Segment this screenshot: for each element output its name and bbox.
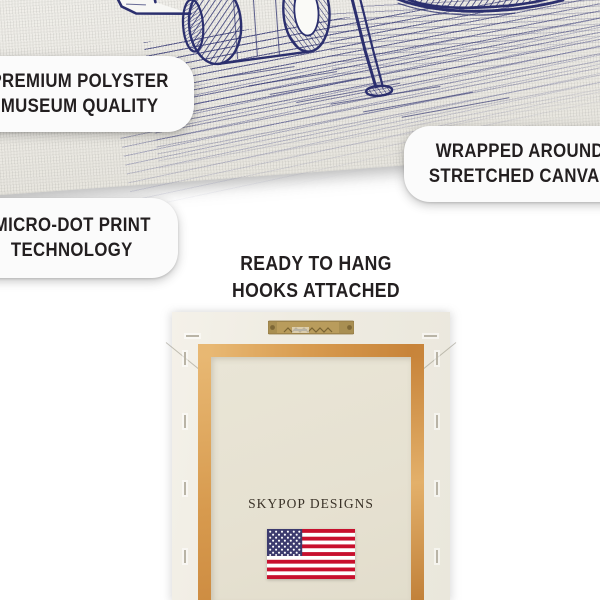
- staple: [424, 335, 437, 337]
- feature-line: MICRO-DOT PRINT: [0, 213, 151, 238]
- product-infographic: PREMIUM POLYSTER MUSEUM QUALITY WRAPPED …: [0, 0, 600, 600]
- staple: [436, 550, 438, 563]
- staple: [184, 550, 186, 563]
- staple: [436, 482, 438, 495]
- feature-line: READY TO HANG: [210, 251, 421, 278]
- feature-line: PREMIUM POLYSTER: [0, 69, 169, 94]
- feature-line: WRAPPED AROUND: [436, 139, 600, 164]
- feature-line: TECHNOLOGY: [11, 238, 133, 263]
- feature-callout-premium-polyster: PREMIUM POLYSTER MUSEUM QUALITY: [0, 56, 194, 132]
- feature-line: MUSEUM QUALITY: [1, 94, 159, 119]
- staple: [436, 352, 438, 365]
- staple: [184, 482, 186, 495]
- canvas-back-view: SKYPOP DESIGNS: [172, 312, 450, 600]
- inner-canvas-panel: SKYPOP DESIGNS: [211, 357, 411, 600]
- staple: [184, 352, 186, 365]
- staple: [186, 335, 199, 337]
- feature-line: STRETCHED CANVAS: [429, 164, 600, 189]
- feature-callout-ready-to-hang: READY TO HANG HOOKS ATTACHED: [196, 251, 436, 305]
- feature-callout-micro-dot-print: MICRO-DOT PRINT TECHNOLOGY: [0, 198, 178, 278]
- staple: [294, 329, 307, 331]
- united-states-flag-icon: [267, 529, 355, 579]
- sawtooth-hanger: [268, 320, 354, 335]
- staple: [184, 415, 186, 428]
- brand-label: SKYPOP DESIGNS: [211, 496, 411, 512]
- feature-callout-wrapped-around: WRAPPED AROUND STRETCHED CANVAS: [404, 126, 600, 202]
- feature-line: HOOKS ATTACHED: [210, 278, 421, 305]
- staple: [436, 415, 438, 428]
